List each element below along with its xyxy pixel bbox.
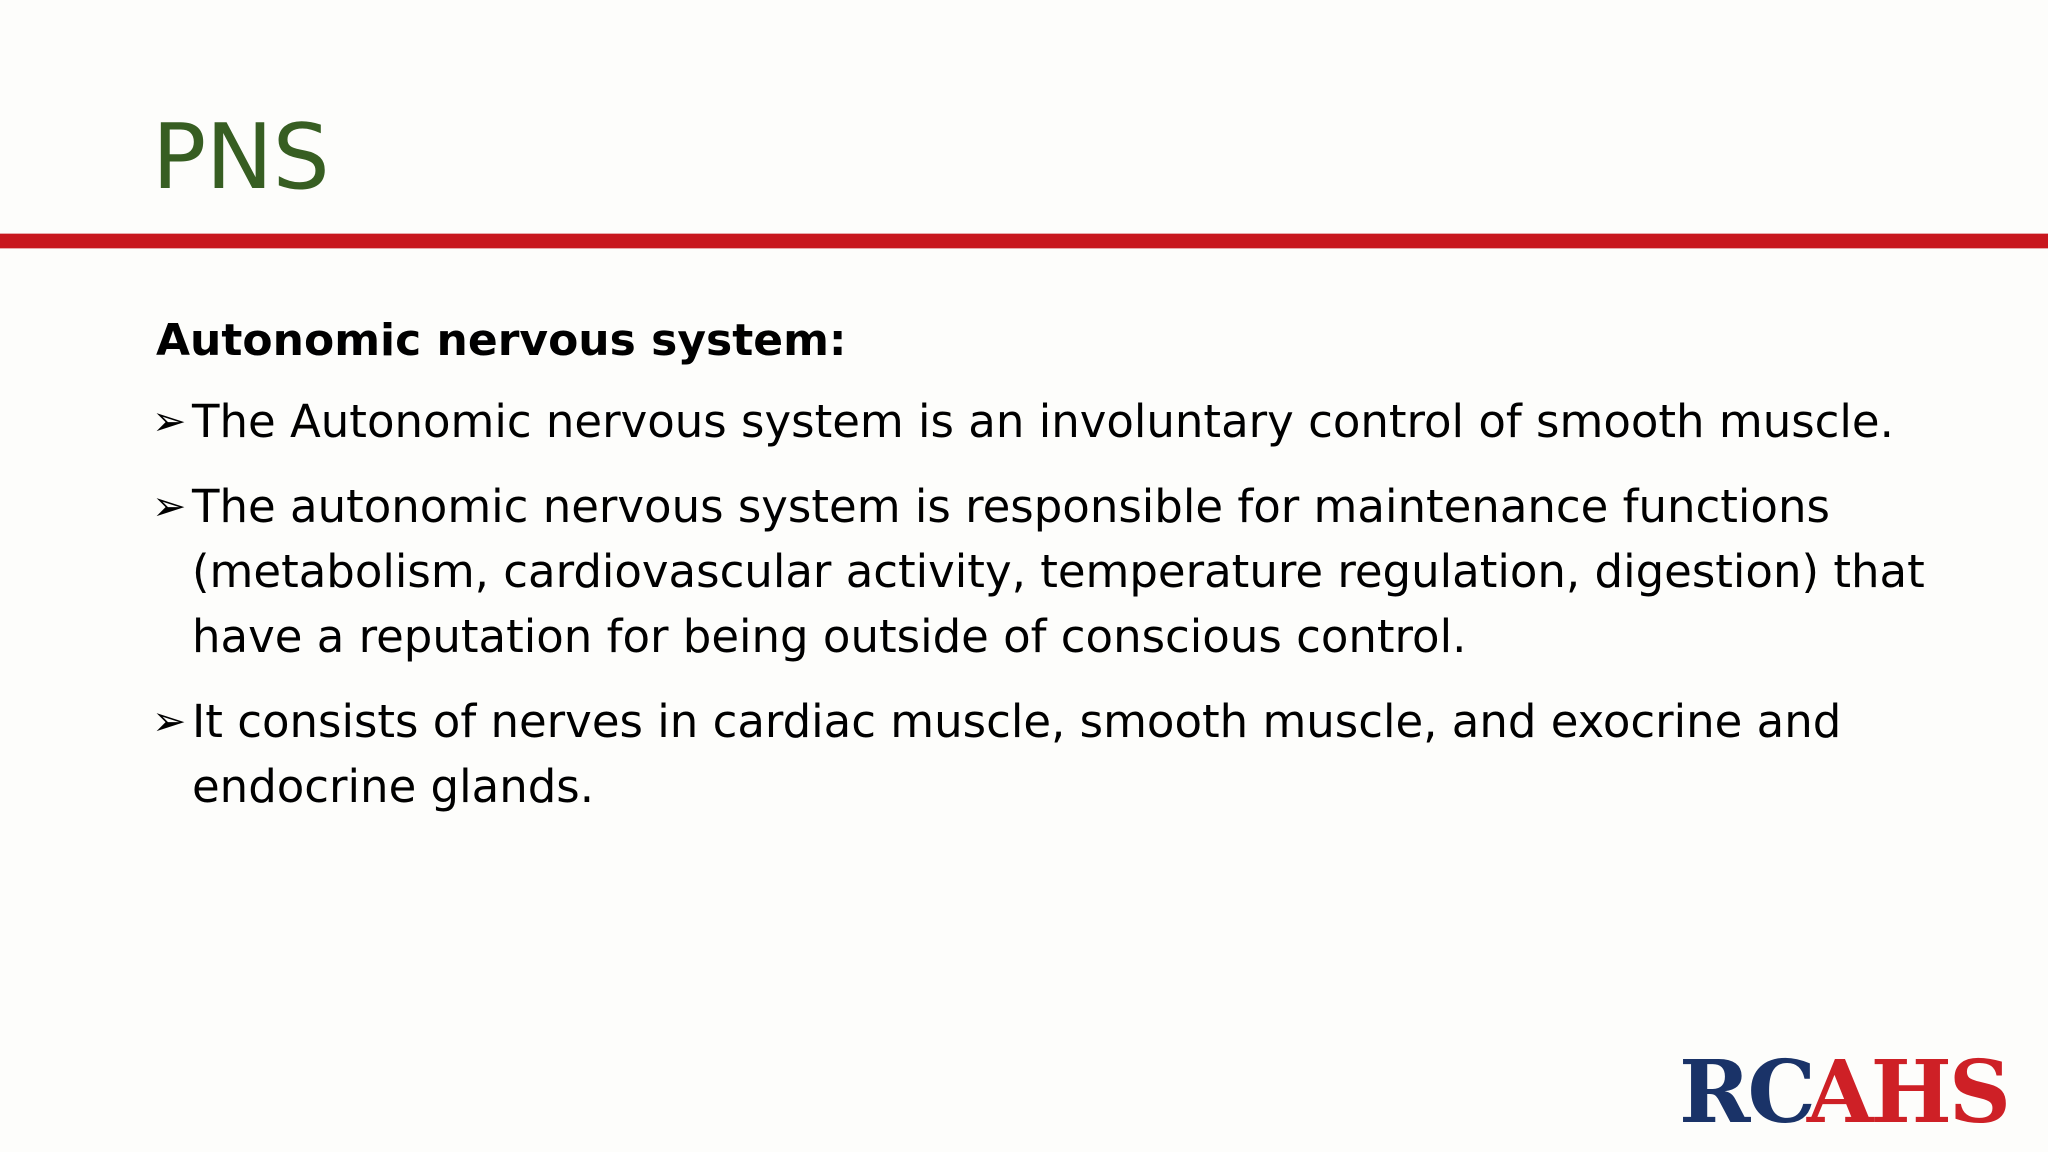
list-item: ➢ The Autonomic nervous system is an inv… [152, 389, 1942, 454]
rcahs-logo: RC AHS [1679, 1050, 2008, 1136]
logo-text-rc: RC [1679, 1050, 1813, 1136]
list-item-label: The autonomic nervous system is responsi… [192, 474, 1942, 669]
slide-title-area: PNS [0, 0, 2048, 233]
slide-canvas: PNS Autonomic nervous system: ➢ The Auto… [0, 0, 2048, 1152]
list-item-label: It consists of nerves in cardiac muscle,… [192, 689, 1942, 819]
title-divider-rule [0, 233, 2048, 249]
list-item: ➢ The autonomic nervous system is respon… [152, 474, 1942, 669]
arrowhead-bullet-icon: ➢ [152, 689, 192, 754]
logo-text-ahs: AHS [1807, 1050, 2008, 1136]
bullet-list: ➢ The Autonomic nervous system is an inv… [152, 389, 1942, 839]
page-title: PNS [152, 113, 329, 203]
arrowhead-bullet-icon: ➢ [152, 389, 192, 454]
arrowhead-bullet-icon: ➢ [152, 474, 192, 539]
list-item-label: The Autonomic nervous system is an invol… [192, 389, 1942, 454]
slide-body-area: Autonomic nervous system: ➢ The Autonomi… [0, 249, 2048, 1152]
list-item: ➢ It consists of nerves in cardiac muscl… [152, 689, 1942, 819]
section-heading: Autonomic nervous system: [156, 319, 847, 363]
